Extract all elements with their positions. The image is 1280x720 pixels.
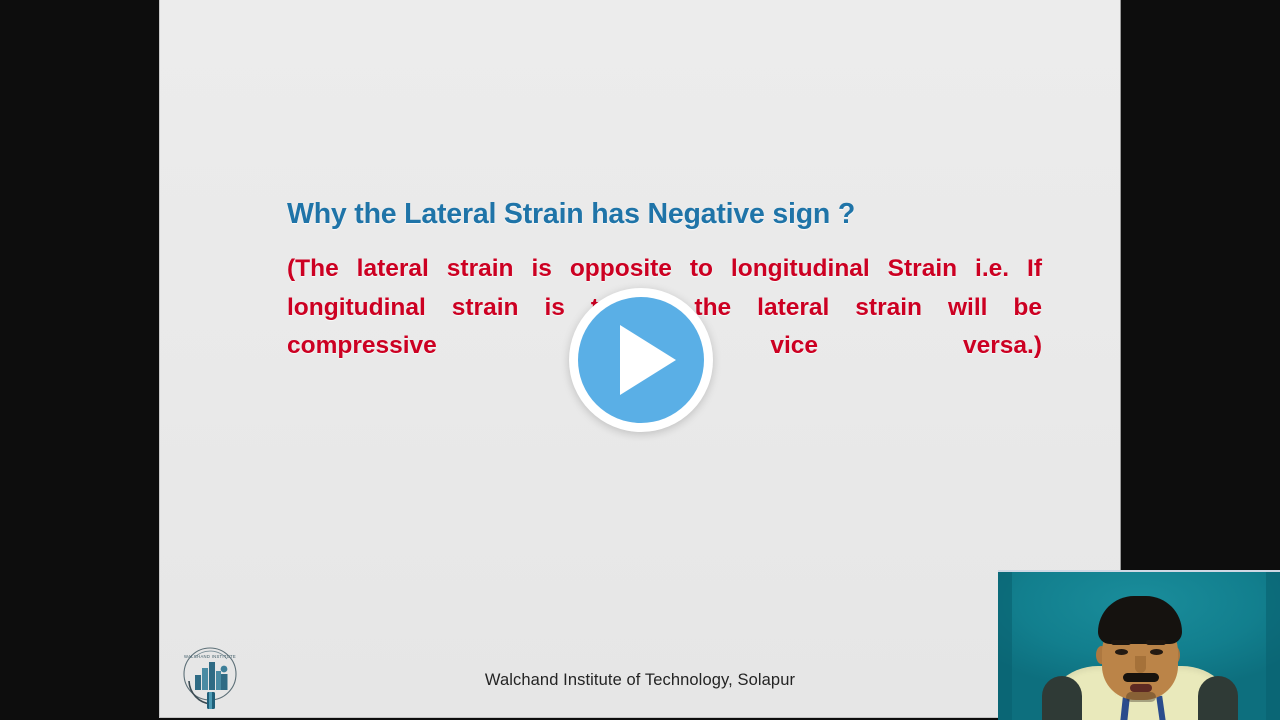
presenter-chin-shadow bbox=[1126, 692, 1156, 702]
presenter-eye-left bbox=[1115, 649, 1128, 655]
webcam-vignette-right bbox=[1266, 572, 1280, 720]
video-player[interactable]: Why the Lateral Strain has Negative sign… bbox=[0, 0, 1280, 720]
svg-text:WALCHAND INSTITUTE: WALCHAND INSTITUTE bbox=[184, 654, 236, 659]
presenter-mouth bbox=[1130, 684, 1152, 692]
webcam-vignette-left bbox=[998, 572, 1012, 720]
play-button[interactable] bbox=[569, 288, 713, 432]
slide-title: Why the Lateral Strain has Negative sign… bbox=[287, 198, 987, 231]
presenter-webcam-overlay[interactable] bbox=[998, 570, 1280, 720]
play-button-disc bbox=[578, 297, 704, 423]
presenter-nose bbox=[1135, 656, 1146, 673]
presenter-eye-right bbox=[1150, 649, 1163, 655]
presenter-eyebrow-left bbox=[1111, 640, 1131, 645]
slide-footer-text: Walchand Institute of Technology, Solapu… bbox=[160, 671, 1120, 690]
presenter-shoulder-left bbox=[1042, 676, 1082, 720]
presenter-mustache bbox=[1123, 673, 1159, 682]
presenter-eyebrow-right bbox=[1146, 640, 1166, 645]
presenter-shoulder-right bbox=[1198, 676, 1238, 720]
letterbox-left bbox=[0, 0, 158, 720]
play-icon bbox=[620, 325, 676, 395]
